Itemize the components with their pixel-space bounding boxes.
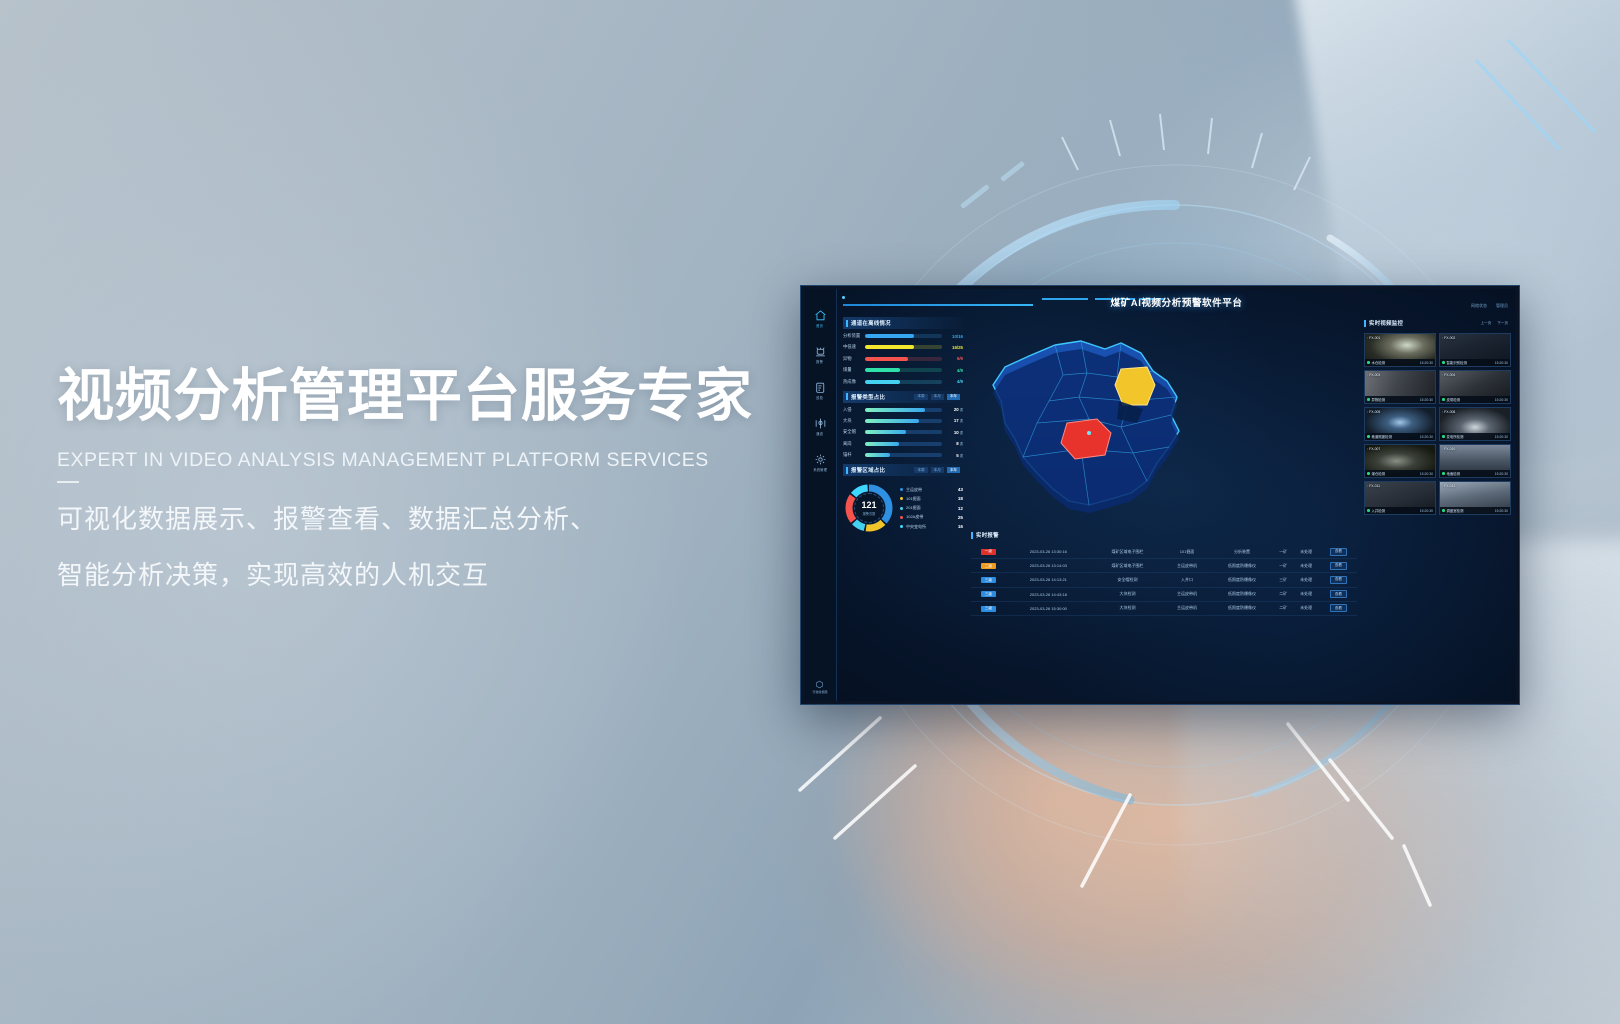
channel-row: 异物 5/9 [843, 356, 963, 362]
status-led-icon [1442, 361, 1445, 364]
panel-accent-bar [846, 467, 848, 474]
donut-legend-item: 中央变电所 16 [900, 524, 963, 530]
video-tile[interactable]: FX-001 水仓检测 15:20:30 [1364, 333, 1436, 367]
video-timestamp: 15:20:30 [1420, 472, 1433, 476]
sidebar-item-home[interactable]: 首页 [814, 309, 827, 328]
alarm-type-tabs: 本周本月本年 [914, 394, 960, 400]
alarm-type-name: 入侵 [843, 407, 862, 413]
status-badge: 一级 [981, 549, 996, 555]
panel-alarm-type-title: 报警类型占比 [851, 393, 885, 401]
alarm-type-value: 20次 [945, 407, 963, 412]
view-button[interactable]: 查看 [1330, 576, 1346, 584]
camera-id: FX-008 [1442, 410, 1455, 414]
alarm-status: 未处理 [1292, 601, 1319, 615]
alarm-type-value: 17次 [945, 418, 963, 423]
alarm-level-cell: 一级 [971, 545, 1006, 559]
channel-bar-fill [865, 380, 900, 384]
alarm-time: 2023-03-26 15:30:00 [1006, 601, 1091, 615]
status-led-icon [1442, 435, 1445, 438]
panel-channel-header: 通道在离线情况 [843, 317, 963, 329]
left-panels: 通道在离线情况 分析装置 10/16中低速 16/25异物 5/9煤量 4/9热… [837, 315, 967, 701]
alarm-type: 大块检测 [1091, 601, 1164, 615]
video-timestamp: 15:20:30 [1495, 472, 1508, 476]
video-timestamp: 15:20:30 [1420, 398, 1433, 402]
dashboard-top-right: 网络状态 管理员 [1471, 303, 1508, 309]
sidebar-label-alarm: 报警 [817, 359, 824, 364]
status-badge: 三级 [981, 577, 996, 583]
table-row[interactable]: 三级 2023-03-26 15:30:00 大块检测 主运皮带机 低照度防爆像… [971, 601, 1357, 615]
camera-id: FX-004 [1442, 373, 1455, 377]
panel-accent-bar [1364, 320, 1366, 327]
view-button[interactable]: 查看 [1330, 590, 1346, 598]
video-footer: 入井检测 15:20:30 [1365, 507, 1435, 514]
channel-bar-track [865, 368, 942, 372]
donut-legend-item: 主运皮带 43 [900, 487, 963, 493]
channel-name: 煤量 [843, 367, 862, 373]
channel-row: 中低速 16/25 [843, 344, 963, 350]
alarm-area-tab-本周[interactable]: 本周 [914, 467, 927, 473]
channel-bar-fill [865, 334, 914, 338]
video-footer: 皮带检测 15:20:30 [1440, 396, 1510, 403]
alarm-type-tab-本周[interactable]: 本周 [914, 394, 927, 400]
dashboard-main: 煤矿AI视频分析预警软件平台 网络状态 管理员 通道在离线情况 分析装置 [837, 289, 1516, 701]
donut-total: 121 [861, 501, 876, 510]
hero-subheadline: EXPERT IN VIDEO ANALYSIS MANAGEMENT PLAT… [57, 449, 817, 472]
legend-label: 中央变电所 [906, 524, 955, 530]
legend-value: 16 [958, 524, 963, 529]
video-timestamp: 15:20:30 [1495, 509, 1508, 513]
panel-realtime-alarm-header: 实时报警 [971, 529, 1357, 541]
center-column: 实时报警 一级 2023-03-26 13:30:16 煤矿区域电子围栏 101… [967, 315, 1361, 701]
alarm-place: 主运皮带机 [1164, 587, 1210, 601]
alarm-area-chart: 121 报警次数 主运皮带 43 101掘面 18 201掘面 12 102A皮… [843, 480, 963, 534]
video-timestamp: 15:20:30 [1420, 361, 1433, 365]
hero-line-2: 智能分析决策，实现高效的人机交互 [57, 555, 817, 592]
video-timestamp: 15:20:30 [1420, 509, 1433, 513]
alarm-type-value: 10次 [945, 430, 963, 435]
alarm-type-bar-track [865, 453, 942, 457]
alarm-status: 未处理 [1292, 545, 1319, 559]
donut-legend: 主运皮带 43 101掘面 18 201掘面 12 102A皮带 25 中央变电… [900, 487, 963, 530]
camera-id: FX-002 [1442, 336, 1455, 340]
legend-label: 主运皮带 [906, 487, 955, 493]
video-tile[interactable]: FX-010 地面检测 15:20:30 [1439, 444, 1511, 478]
admin-user[interactable]: 管理员 [1496, 303, 1508, 309]
video-tile[interactable]: FX-008 变电所检测 15:20:30 [1439, 407, 1511, 441]
alarm-type-unit: 次 [960, 431, 963, 435]
hero-line-1: 可视化数据展示、报警查看、数据汇总分析、 [57, 499, 817, 536]
alarm-action-cell: 查看 [1320, 573, 1357, 587]
camera-id: FX-005 [1367, 410, 1380, 414]
alarm-area-tabs: 本周本月本年 [914, 467, 960, 473]
hero-divider [57, 481, 79, 483]
alarm-type-name: 大块 [843, 418, 862, 424]
channel-value: 4/9 [945, 368, 963, 373]
video-label: 异物检测 [1367, 397, 1385, 402]
alarm-type-name: 离岗 [843, 441, 862, 447]
video-label: 皮带检测 [1442, 397, 1460, 402]
status-led-icon [1367, 509, 1370, 512]
legend-value: 43 [958, 487, 963, 492]
video-footer: 智能识别检测 15:20:30 [1440, 359, 1510, 366]
video-tile[interactable]: FX-007 煤仓检测 15:20:30 [1364, 444, 1436, 478]
alarm-time: 2023-03-26 14:13:21 [1006, 573, 1091, 587]
alarm-status: 未处理 [1292, 573, 1319, 587]
panel-realtime-alarm-title: 实时报警 [976, 531, 999, 539]
panel-accent-bar [846, 393, 848, 400]
table-row[interactable]: 三级 2023-03-26 14:13:21 安全帽检测 入井口 低照度防爆像仪… [971, 573, 1357, 587]
status-led-icon [1442, 398, 1445, 401]
alarm-level-cell: 三级 [971, 573, 1006, 587]
alarm-device: 分析装置 [1210, 545, 1274, 559]
alarm-type-unit: 次 [960, 408, 963, 412]
alarm-type: 安全帽检测 [1091, 573, 1164, 587]
alarm-type-tab-本年[interactable]: 本年 [947, 394, 960, 400]
sidebar-item-alarm[interactable]: 报警 [814, 345, 827, 364]
view-button[interactable]: 查看 [1330, 562, 1346, 570]
alarm-status: 未处理 [1292, 559, 1319, 573]
page-title: 视频分析管理平台服务专家 [57, 368, 817, 425]
legend-dot [900, 516, 903, 519]
panel-alarm-area: 报警区域占比 本周本月本年 121 报警次数 主运皮 [843, 464, 963, 534]
status-led-icon [1442, 509, 1445, 512]
channel-icon [814, 417, 827, 430]
alarm-mine: 一矿 [1274, 545, 1292, 559]
camera-id: FX-011 [1367, 484, 1380, 488]
status-badge: 二级 [981, 563, 996, 569]
donut-caption: 报警次数 [863, 511, 876, 516]
panel-realtime-alarm: 实时报警 一级 2023-03-26 13:30:16 煤矿区域电子围栏 101… [971, 529, 1357, 699]
panel-alarm-area-title: 报警区域占比 [851, 466, 885, 474]
panel-video-header: 实时视频监控 上一页 下一页 [1364, 317, 1511, 329]
channel-value: 10/16 [945, 334, 963, 339]
legend-dot [900, 488, 903, 491]
video-grid: FX-001 水仓检测 15:20:30 FX-002 智能识别检测 15:20… [1364, 333, 1511, 515]
camera-id: FX-010 [1442, 447, 1455, 451]
video-footer: 异物检测 15:20:30 [1365, 396, 1435, 403]
panel-alarm-area-header: 报警区域占比 本周本月本年 [843, 464, 963, 476]
status-led-icon [1442, 472, 1445, 475]
hero-copy: 视频分析管理平台服务专家 EXPERT IN VIDEO ANALYSIS MA… [57, 368, 817, 592]
video-label: 地面检测 [1442, 471, 1460, 476]
panel-alarm-type: 报警类型占比 本周本月本年 入侵 20次大块 17次安全帽 10次离岗 8次锚杆… [843, 391, 963, 459]
channel-row: 分析装置 10/16 [843, 333, 963, 339]
alarm-level-cell: 三级 [971, 601, 1006, 615]
alarm-type-bar-fill [865, 430, 906, 434]
status-badge: 三级 [981, 606, 996, 612]
alarm-type-unit: 次 [960, 442, 963, 446]
video-timestamp: 15:20:30 [1420, 435, 1433, 439]
alarm-mine: 二矿 [1274, 587, 1292, 601]
alarm-type-unit: 次 [960, 454, 963, 458]
sidebar-label-system: 系统管理 [813, 467, 827, 472]
video-label: 煤仓检测 [1367, 471, 1385, 476]
channel-name: 分析装置 [843, 333, 862, 339]
panel-channel-title: 通道在离线情况 [851, 319, 891, 327]
channel-bar-fill [865, 345, 914, 349]
alarm-action-cell: 查看 [1320, 559, 1357, 573]
alarm-type-row: 锚杆 5次 [843, 452, 963, 458]
alarm-area-tab-本月[interactable]: 本月 [931, 467, 944, 473]
panel-accent-bar [846, 320, 848, 327]
alarm-place: 入井口 [1164, 573, 1210, 587]
video-footer: 巷道照度检测 15:20:30 [1365, 433, 1435, 440]
alarm-type-value: 5次 [945, 453, 963, 458]
channel-name: 中低速 [843, 344, 862, 350]
video-footer: 变电所检测 15:20:30 [1440, 433, 1510, 440]
sidebar-footer-label: 驾驶舱视图 [812, 690, 827, 694]
video-tile[interactable]: FX-002 智能识别检测 15:20:30 [1439, 333, 1511, 367]
alarm-mine: 三矿 [1274, 573, 1292, 587]
video-timestamp: 15:20:30 [1495, 398, 1508, 402]
alarm-type-bar-fill [865, 408, 925, 412]
camera-id: FX-007 [1367, 447, 1380, 451]
legend-label: 102A皮带 [906, 514, 955, 520]
dashboard-title: 煤矿AI视频分析预警软件平台 [837, 295, 1516, 309]
alarm-device: 低照度防爆像仪 [1210, 573, 1274, 587]
video-label: 智能识别检测 [1442, 360, 1467, 365]
table-row[interactable]: 二级 2023-03-26 13:14:03 煤矿区域电子围栏 主运皮带机 低照… [971, 559, 1357, 573]
legend-value: 12 [958, 506, 963, 511]
legend-label: 101掘面 [906, 496, 955, 502]
status-led-icon [1367, 472, 1370, 475]
video-footer: 地面检测 15:20:30 [1440, 470, 1510, 477]
video-footer: 水仓检测 15:20:30 [1365, 359, 1435, 366]
panel-alarm-type-header: 报警类型占比 本周本月本年 [843, 391, 963, 403]
channel-row: 煤量 4/9 [843, 367, 963, 373]
video-timestamp: 15:20:30 [1495, 435, 1508, 439]
alarm-action-cell: 查看 [1320, 545, 1357, 559]
right-panels: 实时视频监控 上一页 下一页 FX-001 水仓检测 15:20:30 FX-0… [1361, 315, 1516, 701]
video-label: 入井检测 [1367, 508, 1385, 513]
video-label: 变电所检测 [1442, 434, 1463, 439]
alarm-device: 低照度防爆像仪 [1210, 587, 1274, 601]
legend-dot [900, 525, 903, 528]
sidebar-label-home: 首页 [817, 323, 824, 328]
video-label: 水仓检测 [1367, 360, 1385, 365]
video-timestamp: 15:20:30 [1495, 361, 1508, 365]
channel-row: 热成像 4/9 [843, 379, 963, 385]
network-status: 网络状态 [1471, 303, 1487, 309]
table-row[interactable]: 一级 2023-03-26 13:30:16 煤矿区域电子围栏 101掘面 分析… [971, 545, 1357, 559]
donut-legend-item: 101掘面 18 [900, 496, 963, 502]
alarm-type-bar-fill [865, 442, 899, 446]
video-tile[interactable]: FX-005 巷道照度检测 15:20:30 [1364, 407, 1436, 441]
alarm-type-bar-track [865, 419, 942, 423]
channel-bar-track [865, 334, 942, 338]
alarm-level-cell: 二级 [971, 559, 1006, 573]
status-led-icon [1367, 398, 1370, 401]
alarm-type-bar-track [865, 408, 942, 412]
table-row[interactable]: 三级 2023-03-26 14:43:18 大块检测 主运皮带机 低照度防爆像… [971, 587, 1357, 601]
alarm-mine: 二矿 [1274, 601, 1292, 615]
home-icon [814, 309, 827, 322]
alarm-type-row: 离岗 8次 [843, 441, 963, 447]
status-led-icon [1367, 361, 1370, 364]
dashboard-topbar: 煤矿AI视频分析预警软件平台 网络状态 管理员 [837, 289, 1516, 315]
channel-bar-track [865, 380, 942, 384]
alarm-place: 主运皮带机 [1164, 601, 1210, 615]
video-label: 巷道照度检测 [1367, 434, 1392, 439]
alarm-time: 2023-03-26 13:30:16 [1006, 545, 1091, 559]
alarm-type-bar-fill [865, 453, 890, 457]
alarm-action-cell: 查看 [1320, 587, 1357, 601]
alarm-device: 低照度防爆像仪 [1210, 601, 1274, 615]
dashboard-body: 通道在离线情况 分析装置 10/16中低速 16/25异物 5/9煤量 4/9热… [837, 315, 1516, 701]
sidebar-footer[interactable]: 驾驶舱视图 [812, 680, 828, 694]
alarm-type-value: 8次 [945, 441, 963, 446]
cube-icon [815, 680, 824, 689]
china-province-map[interactable] [971, 317, 1203, 527]
alarm-icon [814, 345, 827, 358]
alarm-area-tab-本年[interactable]: 本年 [947, 467, 960, 473]
monitor-screen: 首页 报警 巡检 通道 [800, 285, 1520, 705]
alarm-type-row: 安全帽 10次 [843, 429, 963, 435]
status-badge: 三级 [981, 591, 996, 597]
alarm-place: 主运皮带机 [1164, 559, 1210, 573]
realtime-alarm-table: 一级 2023-03-26 13:30:16 煤矿区域电子围栏 101掘面 分析… [971, 545, 1357, 616]
video-tile[interactable]: FX-012 调度室检测 15:20:30 [1439, 481, 1511, 515]
alarm-place: 101掘面 [1164, 545, 1210, 559]
video-next-page[interactable]: 下一页 [1497, 321, 1508, 326]
video-pagination: 上一页 下一页 [1480, 321, 1508, 326]
legend-dot [900, 497, 903, 500]
alarm-status: 未处理 [1292, 587, 1319, 601]
panel-accent-bar [971, 532, 973, 539]
video-tile[interactable]: FX-004 皮带检测 15:20:30 [1439, 370, 1511, 404]
donut-legend-item: 201掘面 12 [900, 505, 963, 511]
gear-icon [814, 453, 827, 466]
channel-bar-track [865, 357, 942, 361]
donut-chart: 121 报警次数 [843, 482, 895, 534]
sidebar-item-channel[interactable]: 通道 [814, 417, 827, 436]
legend-label: 201掘面 [906, 505, 955, 511]
alarm-type: 大块检测 [1091, 587, 1164, 601]
sidebar-label-channel: 通道 [817, 431, 824, 436]
donut-center: 121 报警次数 [854, 493, 884, 523]
alarm-level-cell: 三级 [971, 587, 1006, 601]
video-tile[interactable]: FX-011 入井检测 15:20:30 [1364, 481, 1436, 515]
alarm-device: 低照度防爆像仪 [1210, 559, 1274, 573]
video-footer: 调度室检测 15:20:30 [1440, 507, 1510, 514]
alarm-time: 2023-03-26 14:43:18 [1006, 587, 1091, 601]
channel-bar-fill [865, 357, 908, 361]
alarm-type: 煤矿区域电子围栏 [1091, 559, 1164, 573]
alarm-type-row: 入侵 20次 [843, 407, 963, 413]
channel-rows: 分析装置 10/16中低速 16/25异物 5/9煤量 4/9热成像 4/9 [843, 333, 963, 385]
channel-name: 异物 [843, 356, 862, 362]
channel-value: 4/9 [945, 379, 963, 384]
alarm-type-unit: 次 [960, 419, 963, 423]
panel-channel-status: 通道在离线情况 分析装置 10/16中低速 16/25异物 5/9煤量 4/9热… [843, 317, 963, 385]
dashboard-sidebar: 首页 报警 巡检 通道 [804, 289, 837, 701]
alarm-type: 煤矿区域电子围栏 [1091, 545, 1164, 559]
alarm-type-name: 安全帽 [843, 429, 862, 435]
video-footer: 煤仓检测 15:20:30 [1365, 470, 1435, 477]
channel-bar-track [865, 345, 942, 349]
alarm-type-tab-本月[interactable]: 本月 [931, 394, 944, 400]
alarm-type-name: 锚杆 [843, 452, 862, 458]
sidebar-label-inspection: 巡检 [817, 395, 824, 400]
alarm-type-row: 大块 17次 [843, 418, 963, 424]
camera-id: FX-003 [1367, 373, 1380, 377]
alarm-time: 2023-03-26 13:14:03 [1006, 559, 1091, 573]
video-prev-page[interactable]: 上一页 [1480, 321, 1491, 326]
camera-id: FX-012 [1442, 484, 1455, 488]
video-label: 调度室检测 [1442, 508, 1463, 513]
alarm-action-cell: 查看 [1320, 601, 1357, 615]
view-button[interactable]: 查看 [1330, 548, 1346, 556]
camera-id: FX-001 [1367, 336, 1380, 340]
alarm-type-bar-track [865, 430, 942, 434]
panel-video-title: 实时视频监控 [1369, 319, 1403, 327]
video-tile[interactable]: FX-003 异物检测 15:20:30 [1364, 370, 1436, 404]
legend-value: 25 [958, 515, 963, 520]
channel-name: 热成像 [843, 379, 862, 385]
channel-value: 5/9 [945, 356, 963, 361]
alarm-type-bar-fill [865, 419, 919, 423]
clipboard-icon [814, 381, 827, 394]
status-led-icon [1367, 435, 1370, 438]
sidebar-item-system[interactable]: 系统管理 [813, 453, 827, 472]
alarm-mine: 一矿 [1274, 559, 1292, 573]
donut-legend-item: 102A皮带 25 [900, 514, 963, 520]
legend-value: 18 [958, 496, 963, 501]
view-button[interactable]: 查看 [1330, 604, 1346, 612]
sidebar-item-inspection[interactable]: 巡检 [814, 381, 827, 400]
channel-bar-fill [865, 368, 900, 372]
alarm-type-bar-track [865, 442, 942, 446]
channel-value: 16/25 [945, 345, 963, 350]
dashboard: 首页 报警 巡检 通道 [804, 289, 1516, 701]
alarm-type-rows: 入侵 20次大块 17次安全帽 10次离岗 8次锚杆 5次 [843, 407, 963, 459]
legend-dot [900, 507, 903, 510]
